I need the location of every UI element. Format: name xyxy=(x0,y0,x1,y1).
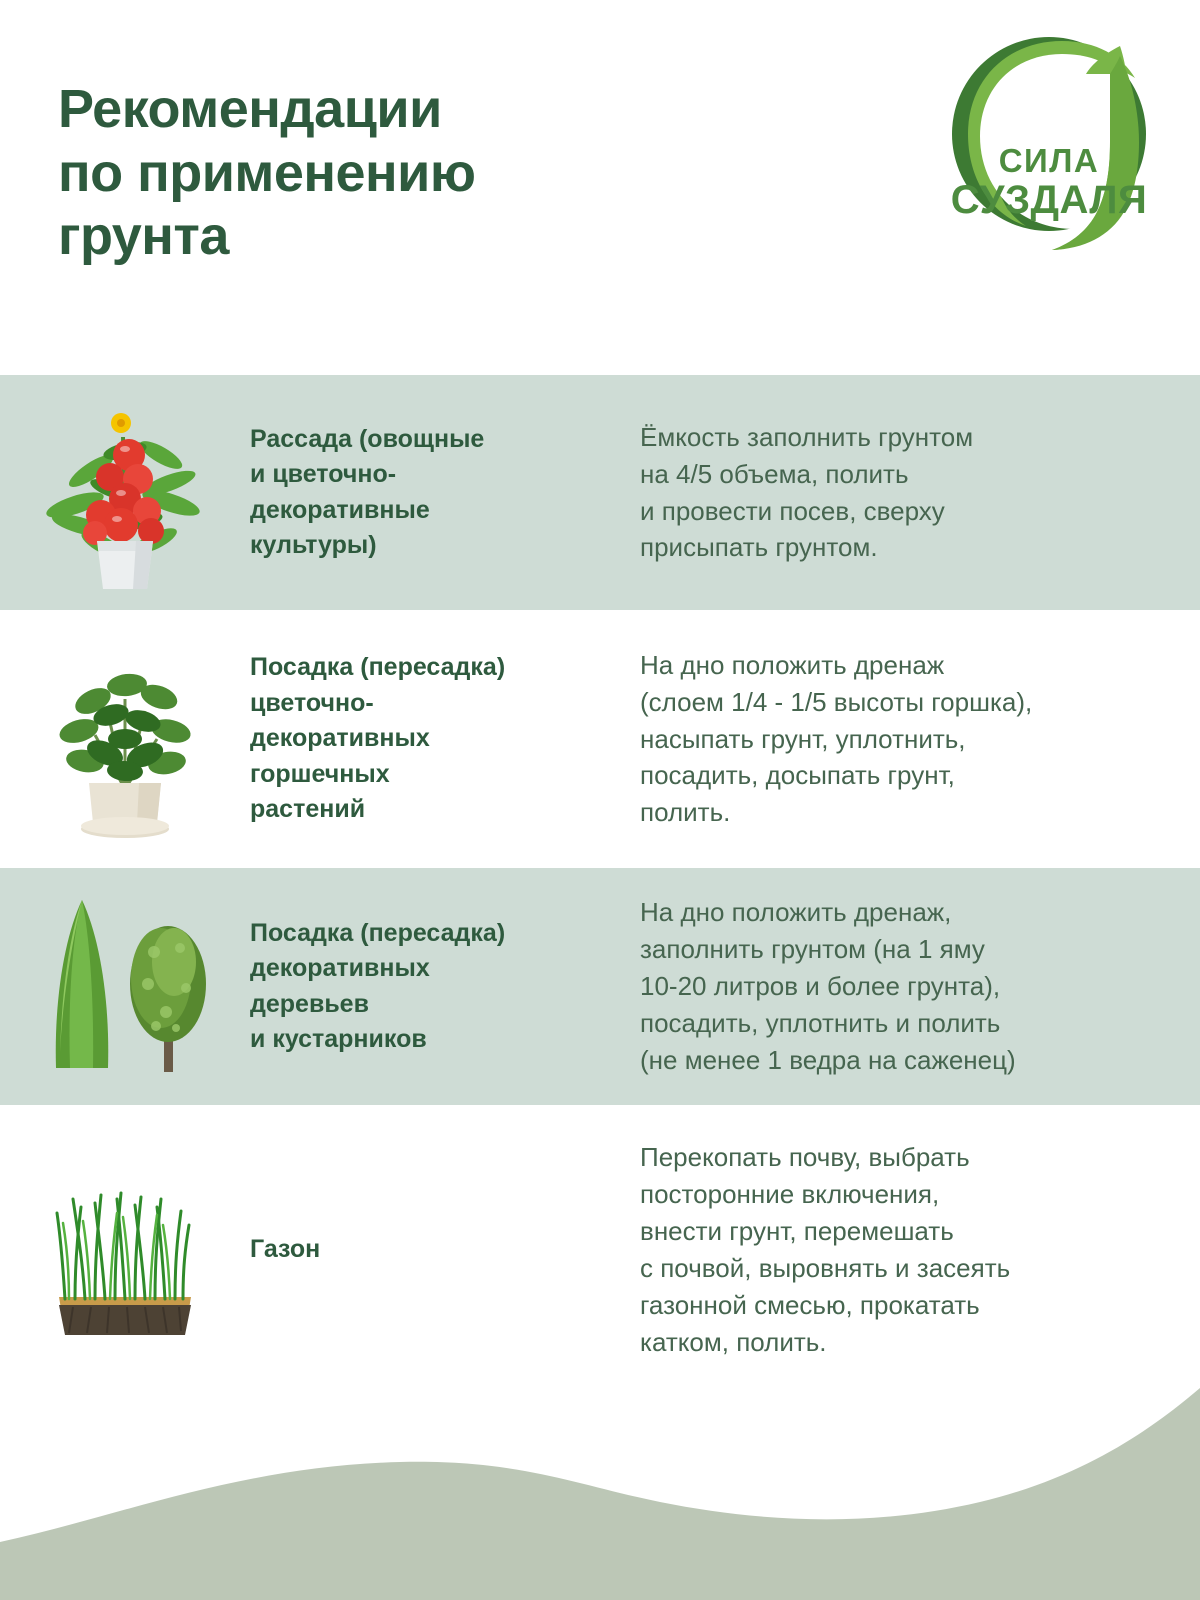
sila-suzdalya-logo: СИЛА СУЗДАЛЯ xyxy=(934,16,1164,266)
lawn-grass-turf-image xyxy=(35,1155,215,1345)
row-title: Газон xyxy=(250,1232,640,1268)
row-description: На дно положить дренаж (слоем 1/4 - 1/5 … xyxy=(640,647,1200,832)
row-description: Перекопать почву, выбрать посторонние вк… xyxy=(640,1139,1200,1360)
row-image-cell xyxy=(0,610,250,868)
row-image-cell xyxy=(0,375,250,610)
page-title: Рекомендации по применению грунта xyxy=(58,78,698,269)
potted-houseplant-image xyxy=(35,639,215,839)
row-title: Посадка (пересадка) декоративных деревье… xyxy=(250,916,640,1058)
row-title: Рассада (овощные и цветочно- декоративны… xyxy=(250,422,640,564)
table-row: Рассада (овощные и цветочно- декоративны… xyxy=(0,375,1200,610)
row-image-cell xyxy=(0,1105,250,1395)
table-row: Посадка (пересадка) цветочно- декоративн… xyxy=(0,610,1200,868)
page-header: Рекомендации по применению грунта СИЛА С… xyxy=(0,0,1200,375)
ornamental-trees-and-shrubs-image xyxy=(30,892,220,1082)
bottom-wave-decoration xyxy=(0,1370,1200,1600)
row-description: Ёмкость заполнить грунтом на 4/5 объема,… xyxy=(640,419,1200,567)
recommendation-table: Рассада (овощные и цветочно- декоративны… xyxy=(0,375,1200,1395)
row-title: Посадка (пересадка) цветочно- декоративн… xyxy=(250,650,640,828)
table-row: Газон Перекопать почву, выбрать посторон… xyxy=(0,1105,1200,1395)
row-description: На дно положить дренаж, заполнить грунто… xyxy=(640,894,1200,1079)
table-row: Посадка (пересадка) декоративных деревье… xyxy=(0,868,1200,1105)
row-image-cell xyxy=(0,868,250,1105)
tomato-seedling-in-pot-image xyxy=(35,393,215,593)
